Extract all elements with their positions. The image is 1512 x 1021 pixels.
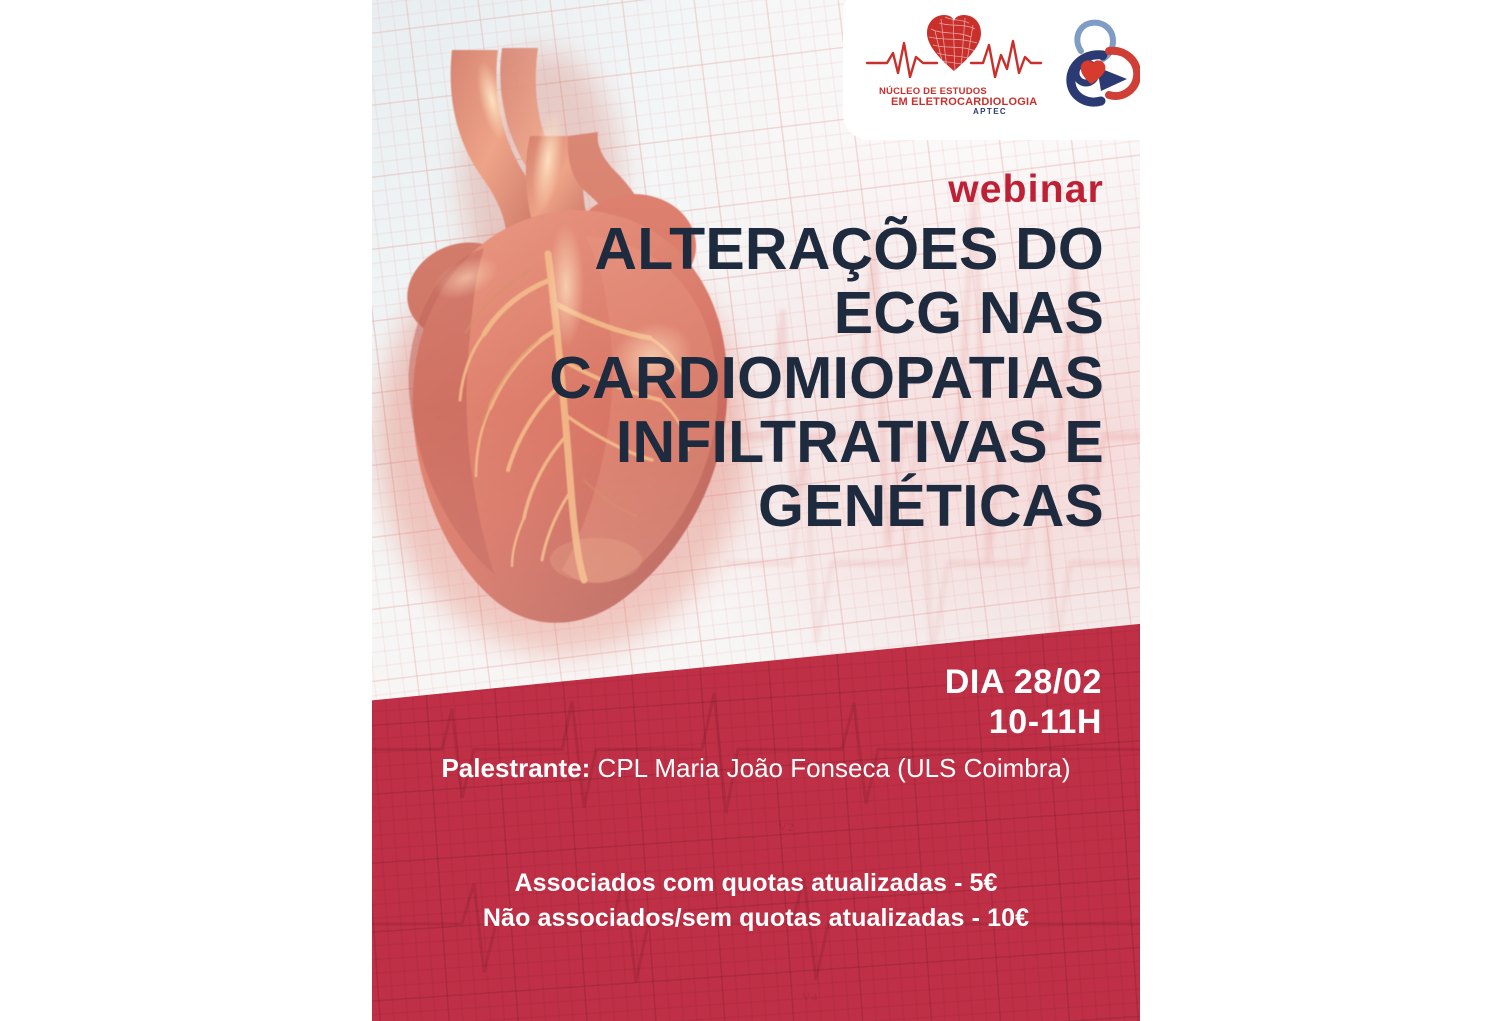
poster-title-block: webinar ALTERAÇÕES DO ECG NAS CARDIOMIOP… [372, 170, 1140, 538]
nucleo-estudos-eletrocardiologia-logo: NÚCLEO DE ESTUDOS EM ELETROCARDIOLOGIA A… [865, 11, 1043, 115]
headline-line-3: CARDIOMIOPATIAS [372, 346, 1104, 410]
event-time: 10-11H [372, 702, 1102, 742]
speaker-label: Palestrante: [441, 753, 590, 783]
logo-badge: NÚCLEO DE ESTUDOS EM ELETROCARDIOLOGIA A… [843, 0, 1140, 140]
page-canvas: V2 V4 [0, 0, 1512, 1021]
price-block: Associados com quotas atualizadas - 5€ N… [372, 866, 1140, 935]
ecg-lead-label-v4: V4 [802, 990, 819, 1005]
date-time-block: DIA 28/02 10-11H [372, 662, 1140, 742]
aptec-logo [1059, 17, 1140, 109]
logo-line2: EM ELETROCARDIOLOGIA [891, 96, 1037, 108]
price-line-nonmembers: Não associados/sem quotas atualizadas - … [372, 901, 1140, 936]
webinar-poster: V2 V4 [372, 0, 1140, 1021]
headline-line-5: GENÉTICAS [372, 474, 1104, 538]
headline-line-4: INFILTRATIVAS E [372, 410, 1104, 474]
speaker-line: Palestrante: CPL Maria João Fonseca (ULS… [372, 753, 1140, 784]
price-line-members: Associados com quotas atualizadas - 5€ [372, 866, 1140, 901]
headline-line-2: ECG NAS [372, 281, 1104, 345]
ecg-lead-label-v2: V2 [778, 820, 795, 835]
logo-line3: APTEC [973, 107, 1007, 115]
headline-line-1: ALTERAÇÕES DO [372, 217, 1104, 281]
speaker-name: CPL Maria João Fonseca (ULS Coimbra) [590, 753, 1070, 783]
kicker-webinar: webinar [372, 170, 1104, 209]
event-date: DIA 28/02 [372, 662, 1102, 702]
